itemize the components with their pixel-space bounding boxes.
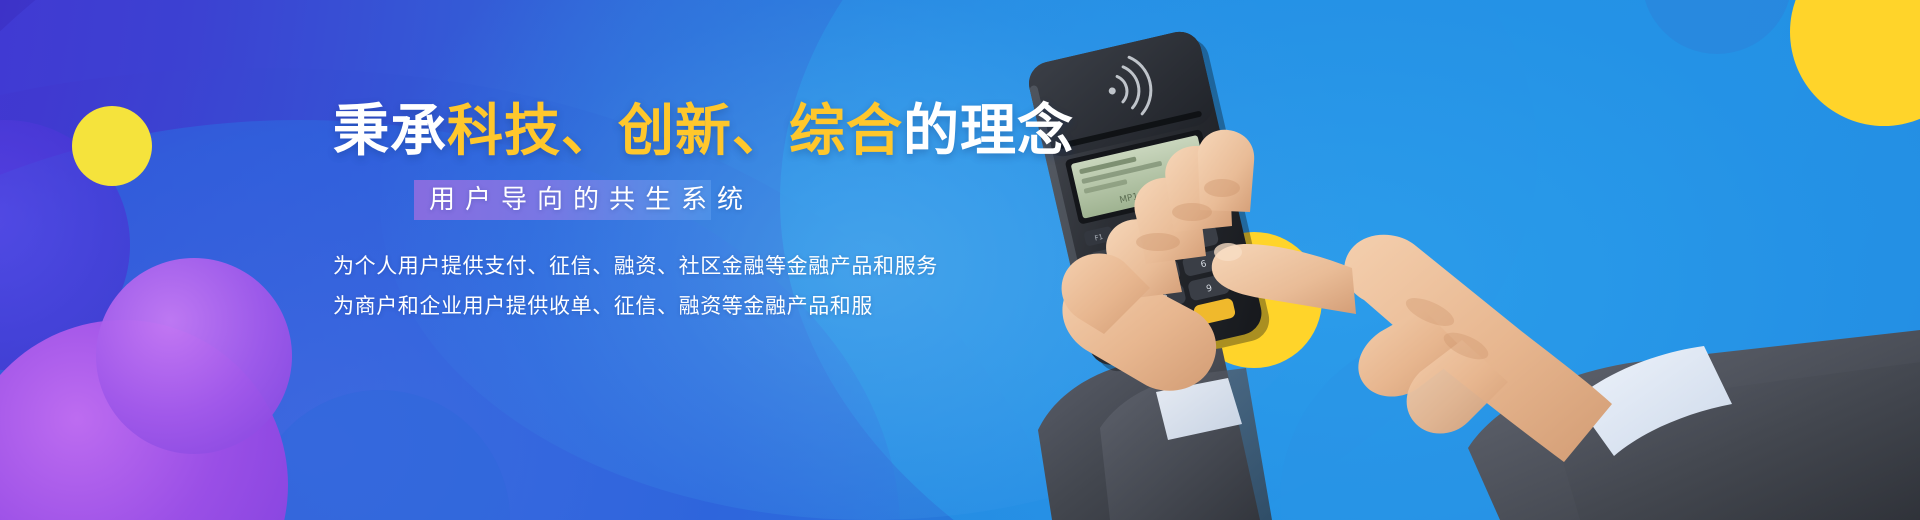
page-title: 秉承科技、创新、综合的理念 bbox=[333, 100, 1093, 164]
promo-banner: MP1901 V1 F1F2 F3F4 bbox=[0, 0, 1920, 520]
headline-suffix: 的理念 bbox=[903, 99, 1074, 164]
headline-prefix: 秉承 bbox=[333, 99, 447, 164]
subtitle-text: 用户导向的共生系统 bbox=[429, 182, 753, 218]
banner-copy: 秉承科技、创新、综合的理念 用户导向的共生系统 为个人用户提供支付、征信、融资、… bbox=[333, 100, 1093, 326]
decorative-circle-yellow-left bbox=[72, 106, 152, 186]
body-line-2: 为商户和企业用户提供收单、征信、融资等金融产品和服 bbox=[333, 286, 1093, 326]
subtitle-block: 用户导向的共生系统 bbox=[333, 180, 1093, 224]
headline-highlight: 科技、创新、综合 bbox=[447, 99, 903, 164]
pos-terminal-illustration: MP1901 V1 F1F2 F3F4 bbox=[960, 0, 1920, 520]
body-line-1: 为个人用户提供支付、征信、融资、社区金融等金融产品和服务 bbox=[333, 246, 1093, 286]
decorative-circle-purple-small bbox=[96, 258, 292, 454]
